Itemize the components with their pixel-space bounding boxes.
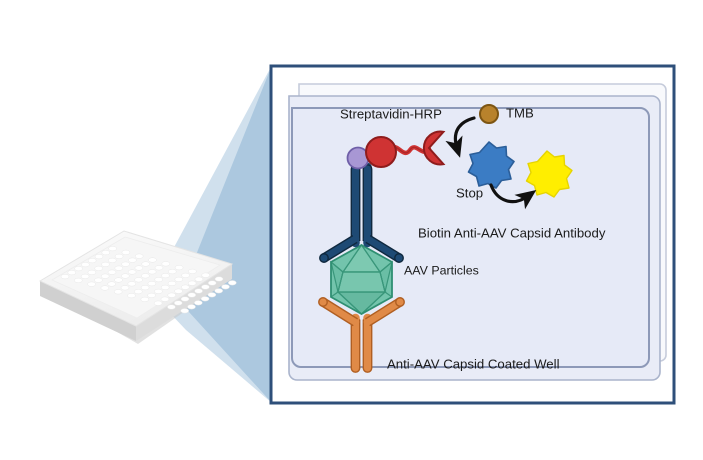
streptavidin-lobe [366, 137, 396, 167]
tmb-substrate-dot[interactable] [480, 105, 498, 123]
label-stop: Stop [456, 185, 483, 200]
label-coated-well: Anti-AAV Capsid Coated Well [387, 356, 560, 371]
label-biotin-antibody: Biotin Anti-AAV Capsid Antibody [418, 225, 606, 240]
label-streptavidin-hrp: Streptavidin-HRP [340, 106, 442, 121]
label-aav-particles: AAV Particles [404, 263, 479, 277]
label-tmb: TMB [506, 105, 534, 120]
elisa-assay-diagram: Streptavidin-HRP TMB Stop Biotin Anti-AA… [0, 0, 703, 460]
figure-canvas: Streptavidin-HRP TMB Stop Biotin Anti-AA… [0, 0, 703, 460]
